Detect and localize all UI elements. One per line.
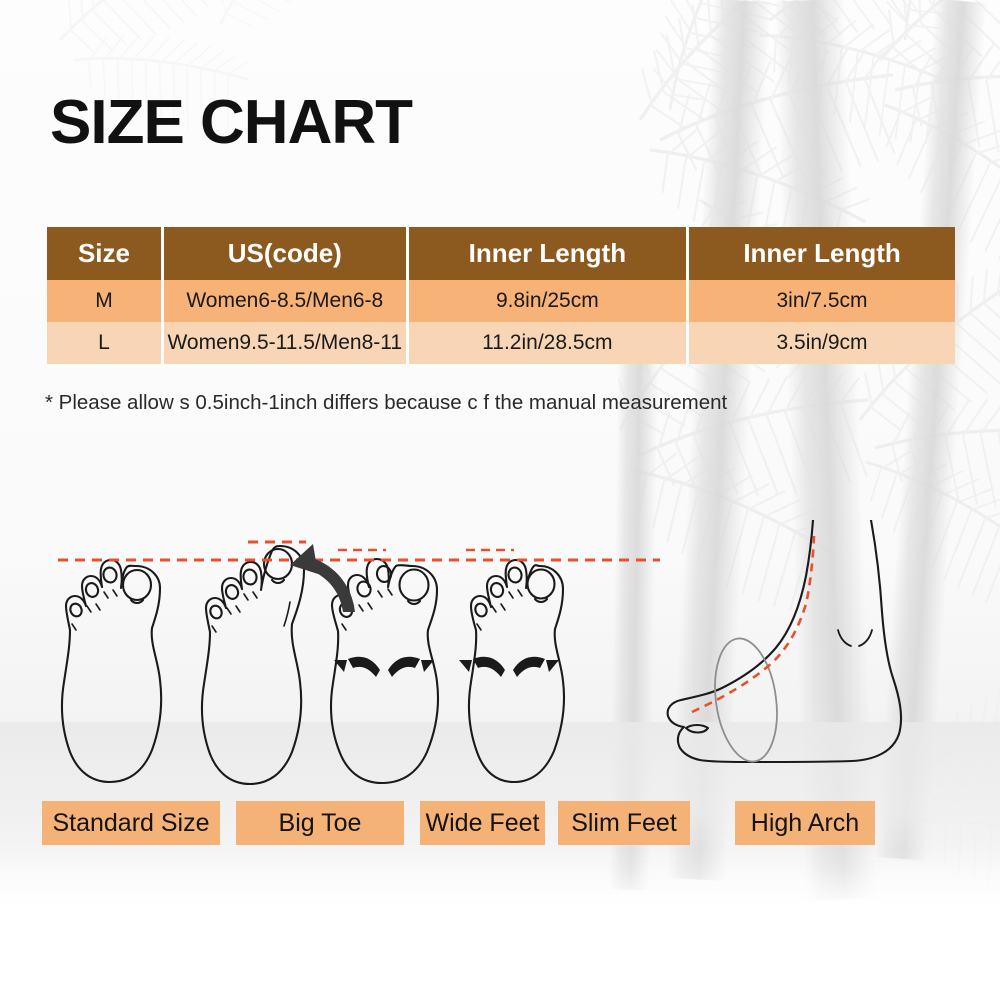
- arch-reference-line: [692, 536, 814, 712]
- foot-diagram-slim-feet: [459, 560, 564, 782]
- cell-size: M: [47, 280, 164, 322]
- page-title: SIZE CHART: [50, 92, 412, 154]
- cell-us-code: Women9.5-11.5/Men8-11: [164, 322, 409, 364]
- wide-arrows: [334, 657, 434, 677]
- foot-type-label-standard-size: Standard Size: [42, 801, 220, 845]
- foot-diagram-big-toe: [202, 546, 304, 784]
- cell-inner-length-1: 11.2in/28.5cm: [409, 322, 689, 364]
- table-header-row: Size US(code) Inner Length Inner Length: [47, 227, 955, 280]
- background-bottom-fade: [0, 850, 1000, 1000]
- size-table: Size US(code) Inner Length Inner Length …: [47, 227, 955, 364]
- cell-inner-length-2: 3.5in/9cm: [689, 322, 955, 364]
- cell-size: L: [47, 322, 164, 364]
- foot-type-illustrations: [0, 520, 1000, 820]
- foot-diagram-standard-size: [62, 560, 161, 782]
- cell-inner-length-1: 9.8in/25cm: [409, 280, 689, 322]
- foot-type-label-high-arch: High Arch: [735, 801, 875, 845]
- foot-type-label-big-toe: Big Toe: [236, 801, 404, 845]
- column-header-inner-length-1: Inner Length: [409, 227, 689, 280]
- column-header-inner-length-2: Inner Length: [689, 227, 955, 280]
- foot-type-label-wide-feet: Wide Feet: [420, 801, 545, 845]
- foot-type-label-slim-feet: Slim Feet: [558, 801, 690, 845]
- cell-inner-length-2: 3in/7.5cm: [689, 280, 955, 322]
- size-chart-page: SIZE CHART Size US(code) Inner Length In…: [0, 0, 1000, 1000]
- table-row: M Women6-8.5/Men6-8 9.8in/25cm 3in/7.5cm: [47, 280, 955, 322]
- column-header-us-code: US(code): [164, 227, 409, 280]
- measurement-disclaimer: * Please allow s 0.5inch-1inch differs b…: [45, 391, 727, 415]
- table-row: L Women9.5-11.5/Men8-11 11.2in/28.5cm 3.…: [47, 322, 955, 364]
- foot-diagram-high-arch: [668, 520, 901, 762]
- column-header-size: Size: [47, 227, 164, 280]
- cell-us-code: Women6-8.5/Men6-8: [164, 280, 409, 322]
